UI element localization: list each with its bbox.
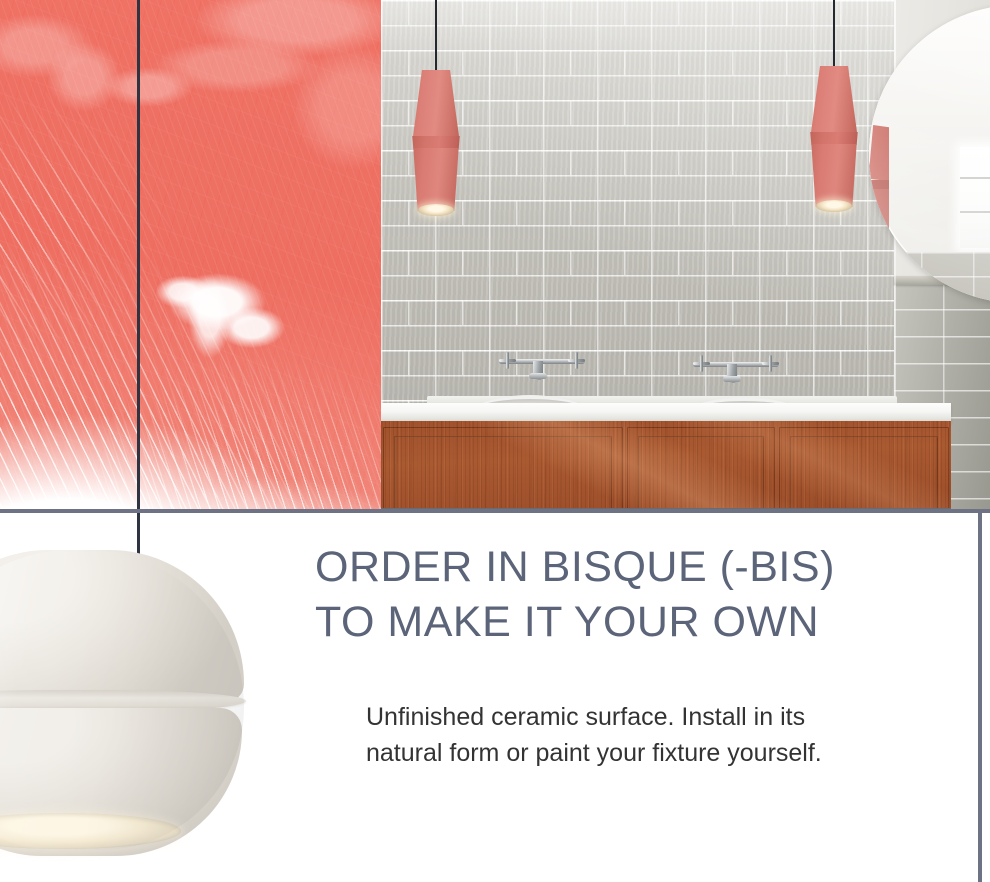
coral-pendant-left — [409, 70, 463, 211]
round-mirror — [869, 5, 990, 303]
mirror-glass-gloss — [869, 5, 990, 303]
pendant-dome — [0, 550, 244, 702]
promo-banner: ORDER IN BISQUE (-BIS) TO MAKE IT YOUR O… — [0, 0, 990, 882]
right-border-inner-gap — [973, 513, 978, 882]
page-title: ORDER IN BISQUE (-BIS) TO MAKE IT YOUR O… — [315, 540, 965, 650]
bathroom-photo — [381, 0, 990, 512]
wall-faucet-right — [693, 355, 779, 381]
pendant-light-glow-right — [816, 200, 853, 212]
pendant-light-glow-left — [418, 204, 455, 216]
paint-bare-canvas-gap — [0, 0, 381, 512]
coral-paint-swatch-panel — [0, 0, 381, 512]
wood-vanity-cabinet — [381, 421, 951, 512]
right-border-line — [978, 509, 982, 882]
pendant-cord-upper — [137, 0, 140, 512]
wall-top-haze — [381, 0, 894, 60]
pendant-cord-left — [435, 0, 437, 72]
sunlight-cast — [381, 421, 951, 512]
vanity-countertop — [381, 403, 951, 423]
bisque-globe-pendant — [0, 550, 244, 850]
pendant-cord-right — [833, 0, 835, 68]
coral-pendant-right — [807, 66, 861, 207]
wall-faucet-left — [499, 352, 585, 378]
horizontal-divider — [0, 509, 990, 513]
promo-subcopy: Unfinished ceramic surface. Install in i… — [366, 700, 946, 771]
